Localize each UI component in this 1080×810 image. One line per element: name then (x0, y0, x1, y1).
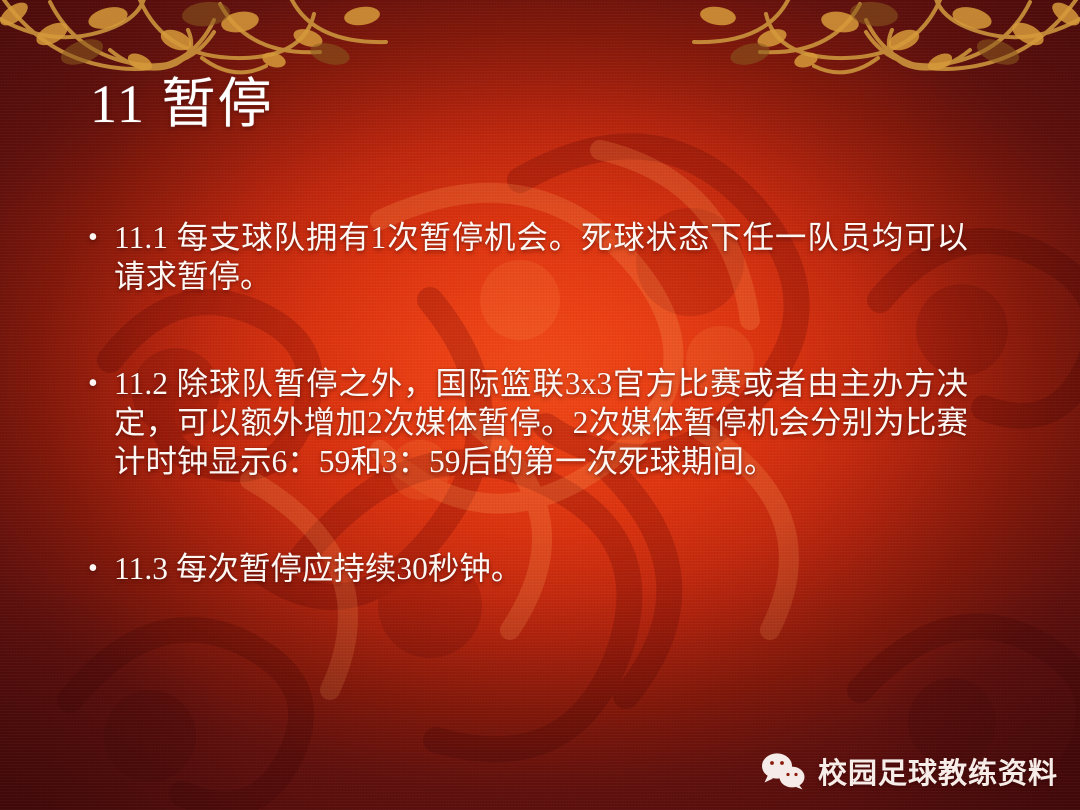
slide-body: • 11.1 每支球队拥有1次暂停机会。死球状态下任一队员均可以请求暂停。 • … (88, 218, 968, 588)
bullet-spacer-2 (88, 481, 968, 549)
wechat-watermark: 校园足球教练资料 (760, 750, 1058, 792)
bullet-marker-icon: • (88, 364, 114, 403)
presentation-slide: 11 暂停 • 11.1 每支球队拥有1次暂停机会。死球状态下任一队员均可以请求… (0, 0, 1080, 810)
faint-corner-watermark (6, 782, 13, 804)
bullet-text-11-3: 11.3 每次暂停应持续30秒钟。 (114, 549, 968, 588)
bullet-item-11-3: • 11.3 每次暂停应持续30秒钟。 (88, 549, 968, 588)
bullet-marker-icon: • (88, 218, 114, 257)
bullet-text-11-1: 11.1 每支球队拥有1次暂停机会。死球状态下任一队员均可以请求暂停。 (114, 218, 968, 296)
bullet-marker-icon: • (88, 549, 114, 588)
wechat-icon (760, 751, 806, 791)
bullet-item-11-2: • 11.2 除球队暂停之外，国际篮联3x3官方比赛或者由主办方决定，可以额外增… (88, 364, 968, 481)
bullet-text-11-2: 11.2 除球队暂停之外，国际篮联3x3官方比赛或者由主办方决定，可以额外增加2… (114, 364, 968, 481)
wechat-watermark-label: 校园足球教练资料 (818, 750, 1058, 792)
slide-title: 11 暂停 (90, 76, 274, 133)
bullet-spacer-1 (88, 296, 968, 364)
bullet-item-11-1: • 11.1 每支球队拥有1次暂停机会。死球状态下任一队员均可以请求暂停。 (88, 218, 968, 296)
